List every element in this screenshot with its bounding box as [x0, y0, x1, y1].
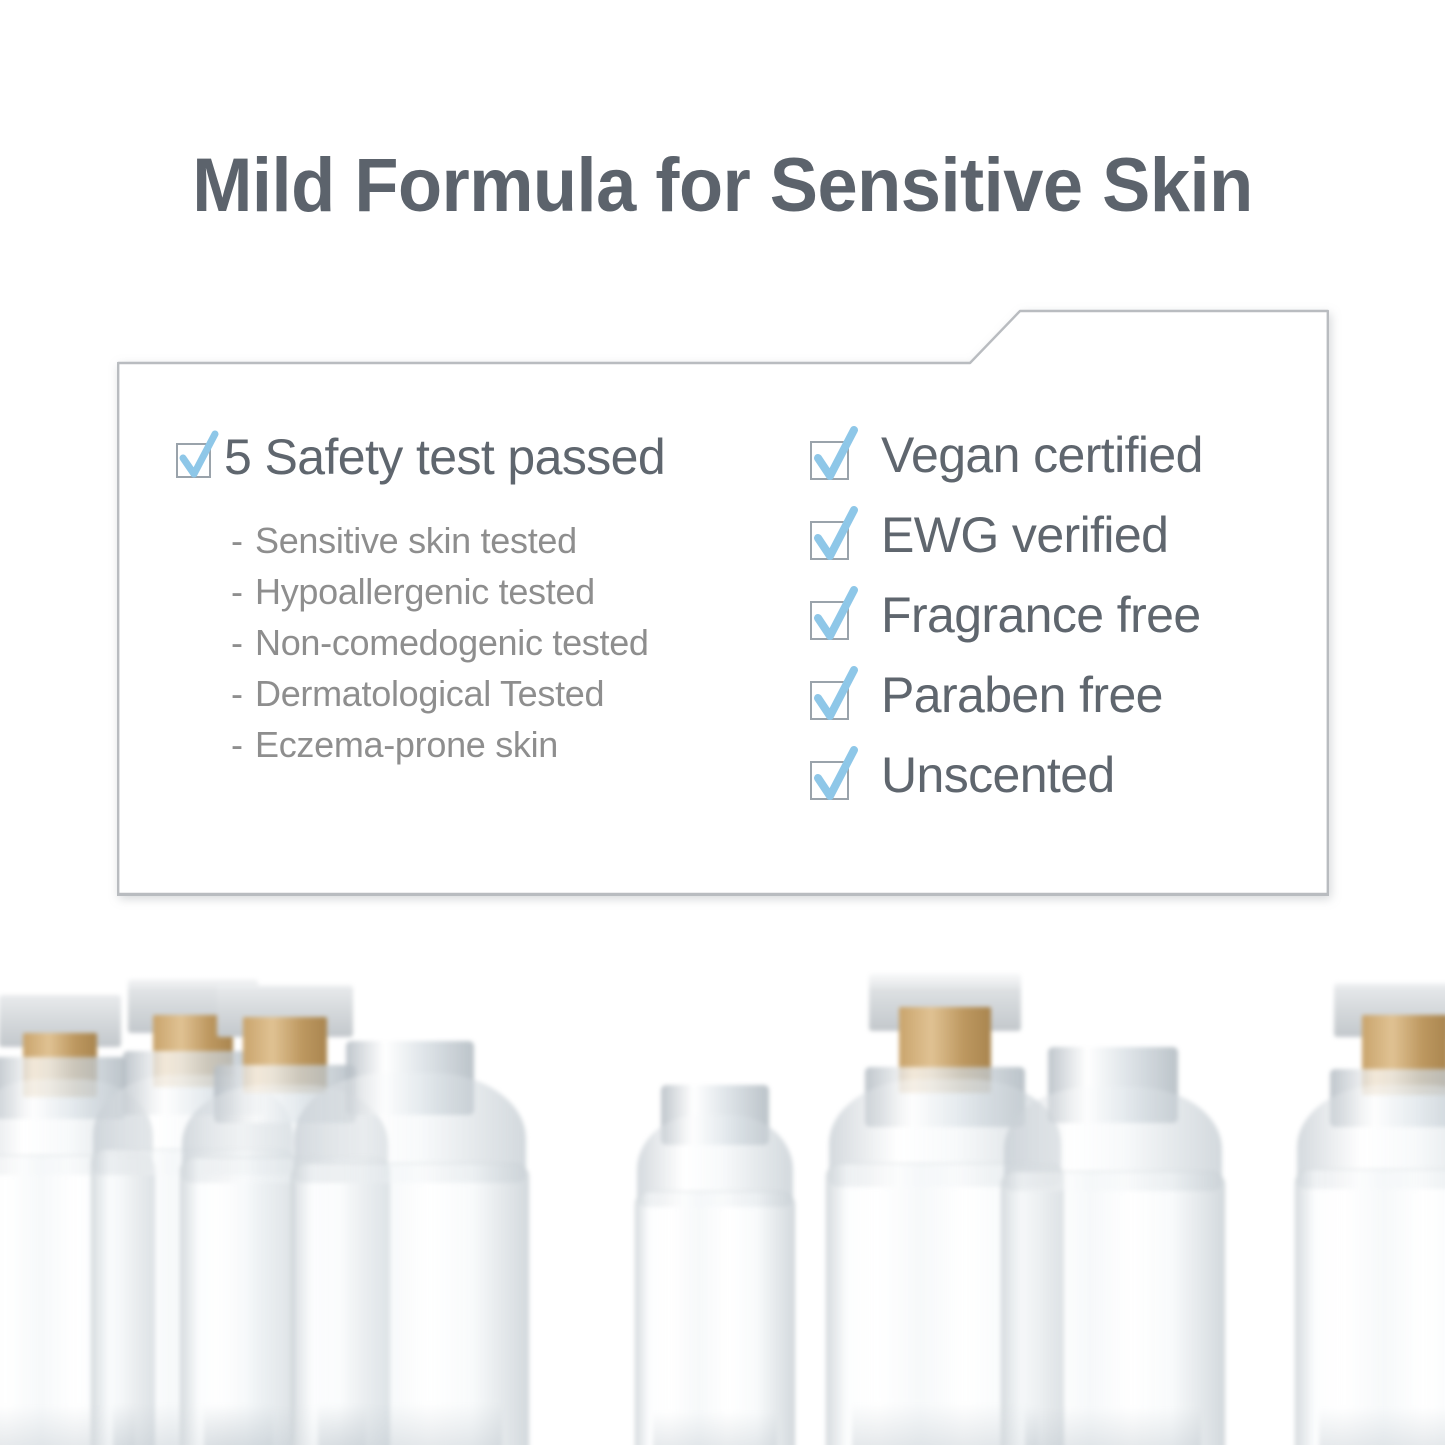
- checkbox-checked-icon: [809, 506, 859, 562]
- list-item-dash: -: [231, 668, 255, 719]
- list-item-dash: -: [231, 515, 255, 566]
- list-item-label: Non-comedogenic tested: [255, 622, 649, 663]
- list-item: -Non-comedogenic tested: [231, 617, 835, 668]
- claim-label: Vegan certified: [881, 430, 1203, 480]
- glass-bottles-photo-inner: [0, 965, 1445, 1445]
- card-content: 5 Safety test passed -Sensitive skin tes…: [117, 308, 1329, 896]
- checkbox-checked-icon: [809, 746, 859, 802]
- list-item: -Sensitive skin tested: [231, 515, 835, 566]
- glass-bottles-photo: [0, 965, 1445, 1445]
- bottle: [630, 1025, 800, 1445]
- claim-row-fragrance-free: Fragrance free: [809, 586, 1309, 666]
- checkbox-checked-icon: [809, 666, 859, 722]
- list-item-label: Dermatological Tested: [255, 673, 604, 714]
- list-item: -Eczema-prone skin: [231, 719, 835, 770]
- list-item-dash: -: [231, 719, 255, 770]
- safety-test-heading-label: 5 Safety test passed: [224, 432, 665, 482]
- claim-row-ewg-verified: EWG verified: [809, 506, 1309, 586]
- claim-label: Fragrance free: [881, 590, 1201, 640]
- claim-row-unscented: Unscented: [809, 746, 1309, 826]
- left-column: 5 Safety test passed -Sensitive skin tes…: [175, 430, 835, 770]
- list-item: -Dermatological Tested: [231, 668, 835, 719]
- checkbox-checked-icon: [175, 430, 219, 480]
- bottle: [285, 975, 535, 1445]
- claim-row-vegan-certified: Vegan certified: [809, 426, 1309, 506]
- page-title: Mild Formula for Sensitive Skin: [36, 142, 1409, 229]
- list-item: -Hypoallergenic tested: [231, 566, 835, 617]
- right-column: Vegan certified EWG verified Fragrance f…: [809, 426, 1309, 826]
- claim-label: Paraben free: [881, 670, 1163, 720]
- bottle: [1290, 965, 1445, 1445]
- list-item-label: Eczema-prone skin: [255, 724, 558, 765]
- claim-label: EWG verified: [881, 510, 1168, 560]
- claim-label: Unscented: [881, 750, 1115, 800]
- safety-test-sub-list: -Sensitive skin tested -Hypoallergenic t…: [231, 515, 835, 770]
- claim-row-paraben-free: Paraben free: [809, 666, 1309, 746]
- list-item-dash: -: [231, 617, 255, 668]
- photo-top-fade: [0, 965, 1445, 991]
- list-item-label: Hypoallergenic tested: [255, 571, 595, 612]
- list-item-dash: -: [231, 566, 255, 617]
- safety-test-heading-row: 5 Safety test passed: [175, 430, 835, 482]
- checkbox-checked-icon: [809, 586, 859, 642]
- list-item-label: Sensitive skin tested: [255, 520, 577, 561]
- bottle: [995, 985, 1230, 1445]
- checkbox-checked-icon: [809, 426, 859, 482]
